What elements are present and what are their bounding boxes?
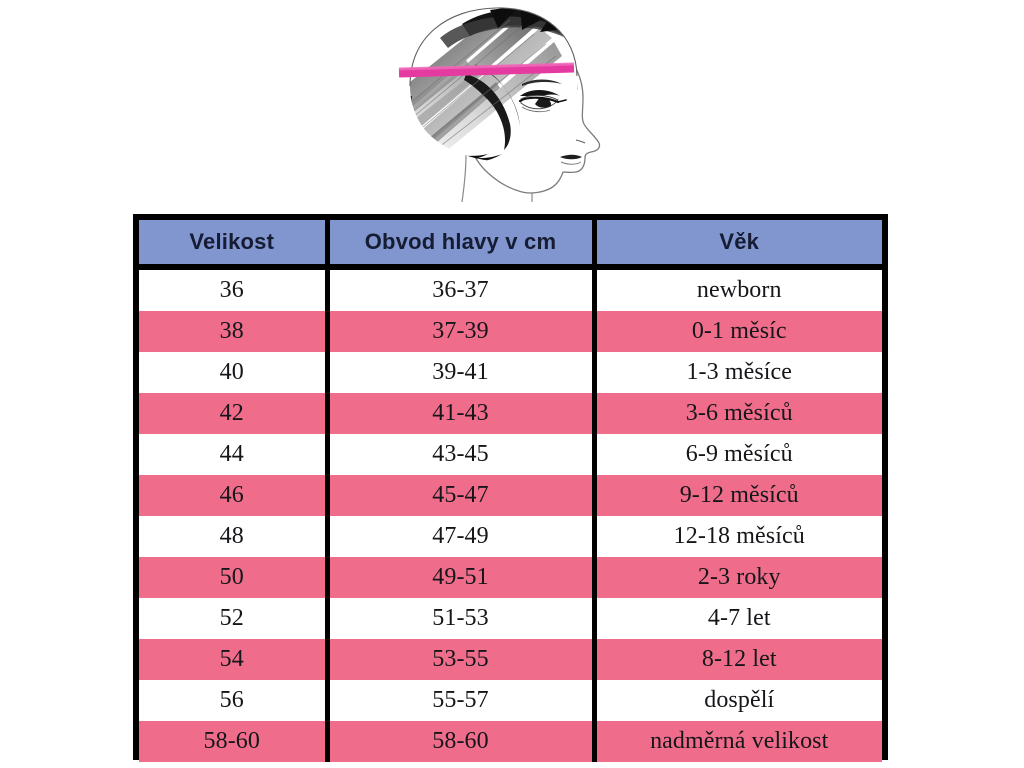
table-row: 38 37-39 0-1 měsíc <box>139 311 882 352</box>
cell-vek: 1-3 měsíce <box>594 352 882 393</box>
cell-velikost: 50 <box>139 557 327 598</box>
column-header-obvod-hlavy: Obvod hlavy v cm <box>327 220 594 267</box>
cell-obvod: 53-55 <box>327 639 594 680</box>
cell-vek: nadměrná velikost <box>594 721 882 762</box>
cell-obvod: 39-41 <box>327 352 594 393</box>
page-root: Velikost Obvod hlavy v cm Věk 36 36-37 n… <box>0 0 1024 768</box>
cell-velikost: 40 <box>139 352 327 393</box>
cell-obvod: 37-39 <box>327 311 594 352</box>
cell-vek: 3-6 měsíců <box>594 393 882 434</box>
table-row: 52 51-53 4-7 let <box>139 598 882 639</box>
table-row: 40 39-41 1-3 měsíce <box>139 352 882 393</box>
cell-obvod: 43-45 <box>327 434 594 475</box>
head-circumference-size-table: Velikost Obvod hlavy v cm Věk 36 36-37 n… <box>133 214 888 760</box>
cell-velikost: 56 <box>139 680 327 721</box>
cell-vek: 0-1 měsíc <box>594 311 882 352</box>
cell-vek: 12-18 měsíců <box>594 516 882 557</box>
cell-vek: 4-7 let <box>594 598 882 639</box>
table-header-row: Velikost Obvod hlavy v cm Věk <box>139 220 882 267</box>
cell-velikost: 46 <box>139 475 327 516</box>
table-row: 56 55-57 dospělí <box>139 680 882 721</box>
cell-obvod: 55-57 <box>327 680 594 721</box>
cell-vek: 9-12 měsíců <box>594 475 882 516</box>
cell-velikost: 38 <box>139 311 327 352</box>
column-header-velikost: Velikost <box>139 220 327 267</box>
cell-vek: 2-3 roky <box>594 557 882 598</box>
cell-obvod: 36-37 <box>327 267 594 311</box>
hair <box>370 6 577 166</box>
cell-obvod: 45-47 <box>327 475 594 516</box>
table-body: 36 36-37 newborn 38 37-39 0-1 měsíc 40 3… <box>139 267 882 762</box>
table-row: 46 45-47 9-12 měsíců <box>139 475 882 516</box>
cell-obvod: 41-43 <box>327 393 594 434</box>
table-row: 54 53-55 8-12 let <box>139 639 882 680</box>
cell-velikost: 58-60 <box>139 721 327 762</box>
cell-vek: dospělí <box>594 680 882 721</box>
cell-obvod: 47-49 <box>327 516 594 557</box>
cell-velikost: 36 <box>139 267 327 311</box>
size-table: Velikost Obvod hlavy v cm Věk 36 36-37 n… <box>139 220 882 762</box>
cell-obvod: 51-53 <box>327 598 594 639</box>
table-header: Velikost Obvod hlavy v cm Věk <box>139 220 882 267</box>
table-row: 50 49-51 2-3 roky <box>139 557 882 598</box>
cell-obvod: 58-60 <box>327 721 594 762</box>
table-row: 48 47-49 12-18 měsíců <box>139 516 882 557</box>
head-profile-measure-illustration <box>370 2 660 202</box>
table-row: 42 41-43 3-6 měsíců <box>139 393 882 434</box>
cell-velikost: 48 <box>139 516 327 557</box>
cell-velikost: 54 <box>139 639 327 680</box>
column-header-vek: Věk <box>594 220 882 267</box>
table-row: 36 36-37 newborn <box>139 267 882 311</box>
table-row: 44 43-45 6-9 měsíců <box>139 434 882 475</box>
cell-velikost: 52 <box>139 598 327 639</box>
cell-vek: newborn <box>594 267 882 311</box>
cell-velikost: 44 <box>139 434 327 475</box>
cell-vek: 6-9 měsíců <box>594 434 882 475</box>
table-row: 58-60 58-60 nadměrná velikost <box>139 721 882 762</box>
cell-velikost: 42 <box>139 393 327 434</box>
cell-obvod: 49-51 <box>327 557 594 598</box>
cell-vek: 8-12 let <box>594 639 882 680</box>
